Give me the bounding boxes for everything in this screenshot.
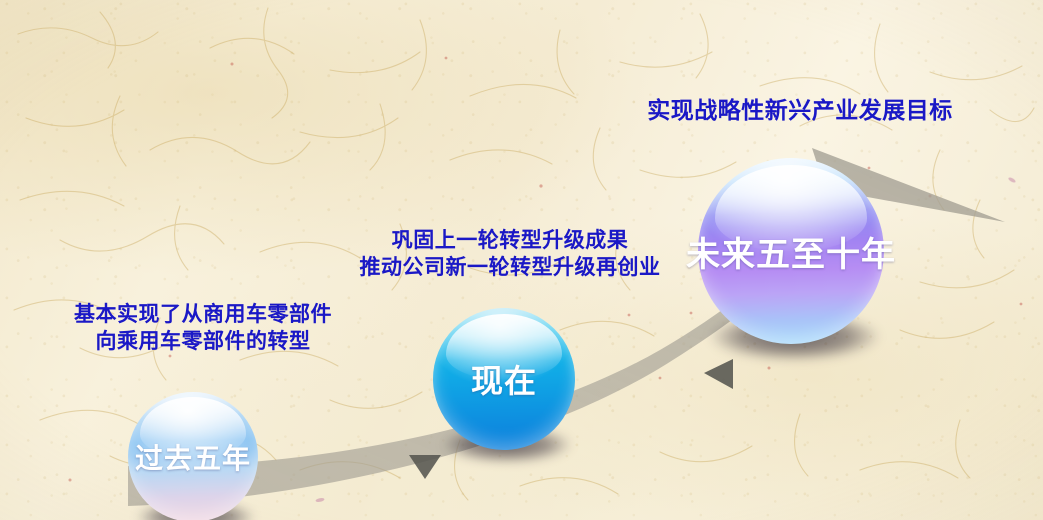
stage-label-now: 现在 — [471, 356, 537, 402]
stage-sphere-now[interactable]: 现在 — [433, 308, 575, 450]
slide-canvas: 基本实现了从商用车零部件 向乘用车零部件的转型 巩固上一轮转型升级成果 推动公司… — [0, 0, 1043, 520]
stage-sphere-past[interactable]: 过去五年 — [128, 392, 258, 520]
caption-now: 巩固上一轮转型升级成果 推动公司新一轮转型升级再创业 — [330, 228, 690, 282]
stage-label-future: 未来五至十年 — [686, 227, 896, 276]
caption-past-five-years: 基本实现了从商用车零部件 向乘用车零部件的转型 — [38, 302, 368, 356]
stage-label-past: 过去五年 — [135, 437, 251, 477]
direction-marker-1 — [409, 455, 441, 479]
stage-sphere-future[interactable]: 未来五至十年 — [698, 158, 884, 344]
direction-marker-2 — [704, 359, 733, 389]
caption-future-goal: 实现战略性新兴产业发展目标 — [600, 96, 1000, 125]
